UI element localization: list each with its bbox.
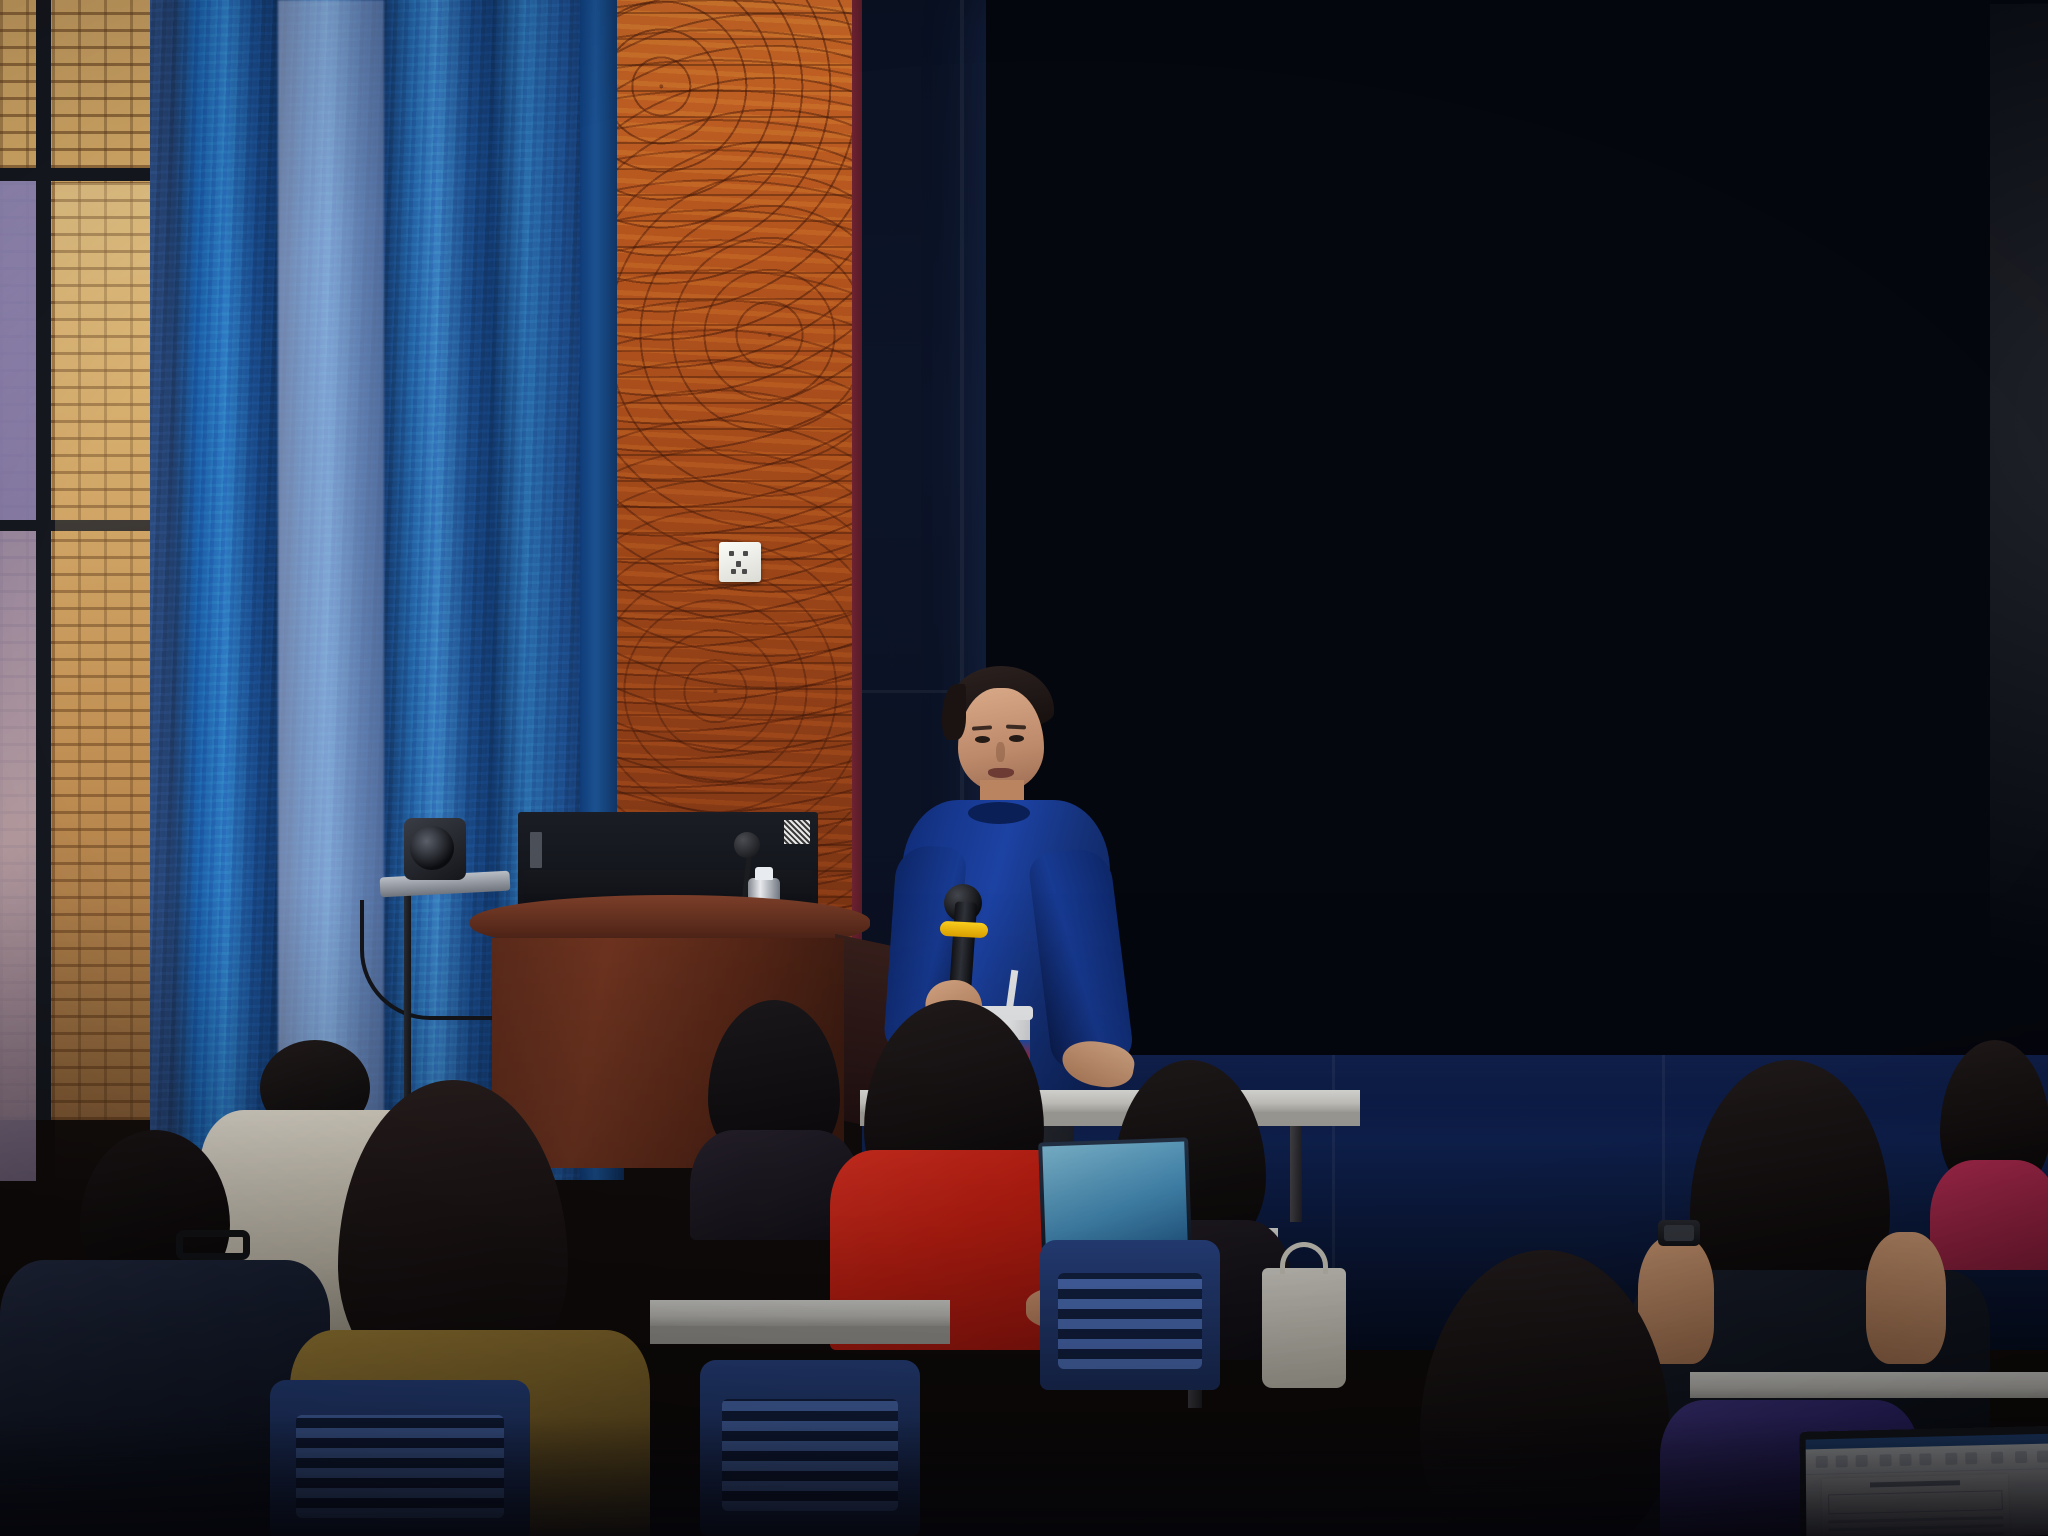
document-page bbox=[1822, 1474, 2010, 1536]
laptop-screen bbox=[1042, 1142, 1187, 1249]
attendee-hair bbox=[1420, 1250, 1670, 1536]
chair-backrest-slats bbox=[722, 1399, 898, 1512]
presenter-eye-left bbox=[975, 736, 990, 743]
microphone-yellow-band bbox=[940, 921, 989, 938]
document-heading bbox=[1870, 1480, 1959, 1487]
laptop-screen bbox=[1806, 1434, 2048, 1536]
desk-leg bbox=[1290, 1126, 1302, 1222]
app-ribbon-toolbar bbox=[1806, 1443, 2048, 1475]
presenter-mouth bbox=[988, 768, 1014, 778]
smartwatch bbox=[1658, 1220, 1700, 1246]
front-desk-lower-edge bbox=[650, 1326, 950, 1344]
laptop-word-document[interactable] bbox=[1800, 1426, 2048, 1536]
presenter-eye-right bbox=[1009, 735, 1024, 742]
chair-backrest-slats bbox=[296, 1415, 504, 1517]
wall-power-socket[interactable] bbox=[719, 542, 761, 582]
laptop-blue-wallpaper[interactable] bbox=[1038, 1137, 1192, 1252]
lecture-hall-photo: Dr. Jeremy Aroles + Associate Professor … bbox=[0, 0, 2048, 1536]
chair-backrest-slats bbox=[1058, 1273, 1202, 1369]
gooseneck-mic-head bbox=[734, 832, 760, 858]
monitor-qr-sticker bbox=[784, 820, 810, 844]
presentation-slide[interactable]: Dr. Jeremy Aroles + Associate Professor … bbox=[1990, 0, 2048, 1044]
camera-lens-icon bbox=[410, 826, 454, 870]
classroom-chair[interactable] bbox=[700, 1360, 920, 1536]
presenter-collar bbox=[968, 802, 1030, 824]
curtain-sheer-panel bbox=[278, 0, 384, 1180]
bottle-cap bbox=[755, 867, 773, 880]
desk-right-front bbox=[1690, 1372, 2048, 1398]
attendee-arm-right bbox=[1866, 1232, 1946, 1364]
projector-glow bbox=[1990, 0, 2048, 1044]
front-desk-lower bbox=[650, 1300, 950, 1326]
glasses-icon bbox=[176, 1230, 250, 1260]
presenter-nose bbox=[996, 742, 1005, 762]
document-table bbox=[1828, 1490, 2003, 1514]
tote-bag[interactable] bbox=[1262, 1268, 1346, 1388]
projection-screen-bezel: Dr. Jeremy Aroles + Associate Professor … bbox=[986, 0, 2048, 1055]
classroom-chair[interactable] bbox=[1040, 1240, 1220, 1390]
window-glass-upper bbox=[0, 181, 36, 521]
monitor-brand-logo bbox=[530, 832, 542, 868]
presenter-hair-side bbox=[942, 684, 966, 740]
classroom-chair[interactable] bbox=[270, 1380, 530, 1536]
